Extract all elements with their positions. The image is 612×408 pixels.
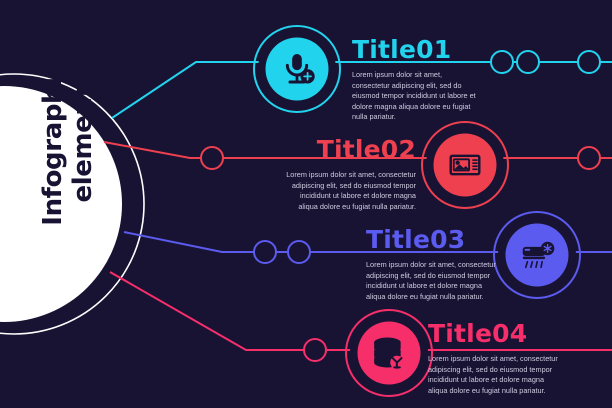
step-body-3: Lorem ipsum dolor sit amet, consectetur … xyxy=(366,260,496,302)
node-dot-2b xyxy=(578,147,600,169)
step-title-3: Title03 xyxy=(366,226,496,254)
step-text-4: Title04 Lorem ipsum dolor sit amet, cons… xyxy=(428,320,560,396)
node-dot-1a xyxy=(491,51,513,73)
node-dot-3a xyxy=(254,241,276,263)
node-dot-4a xyxy=(304,339,326,361)
step-badge-4[interactable] xyxy=(346,310,432,396)
step-badge-1[interactable] xyxy=(254,26,340,112)
step-badge-3[interactable] xyxy=(494,212,580,298)
step-title-2: Title02 xyxy=(286,136,416,164)
step-title-4: Title04 xyxy=(428,320,560,348)
step-text-1: Title01 Lorem ipsum dolor sit amet, cons… xyxy=(352,36,480,123)
step-body-2: Lorem ipsum dolor sit amet, consectetur … xyxy=(286,170,416,212)
step-text-3: Title03 Lorem ipsum dolor sit amet, cons… xyxy=(366,226,496,302)
step-title-1: Title01 xyxy=(352,36,480,64)
step-body-4: Lorem ipsum dolor sit amet, consectetur … xyxy=(428,354,560,396)
step-badge-2[interactable] xyxy=(422,122,508,208)
step-text-2: Title02 Lorem ipsum dolor sit amet, cons… xyxy=(286,136,416,212)
node-dot-1b xyxy=(517,51,539,73)
database-icon xyxy=(374,338,404,370)
node-dot-3b xyxy=(288,241,310,263)
step-body-1: Lorem ipsum dolor sit amet, consectetur … xyxy=(352,70,480,123)
node-dot-1c xyxy=(578,51,600,73)
node-dot-2a xyxy=(201,147,223,169)
infographic-canvas: Infographic element Title01 Lorem ipsum … xyxy=(0,0,612,408)
